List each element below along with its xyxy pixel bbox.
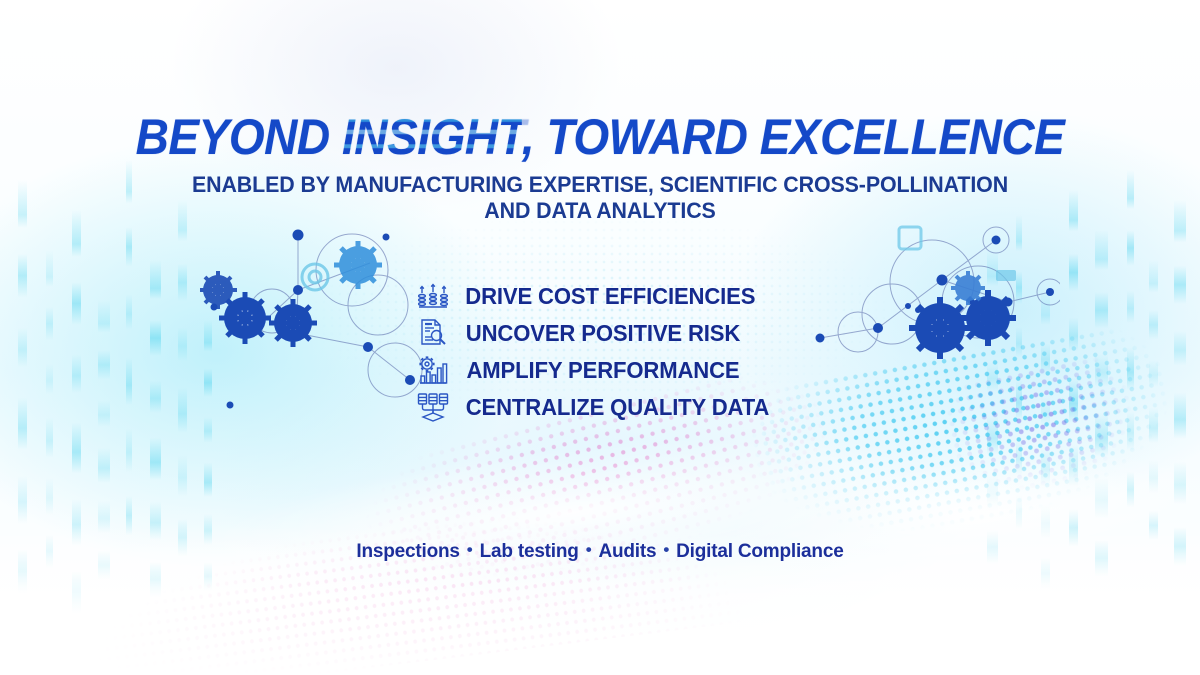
gear-chart-icon [410,355,456,385]
tagline-item-inspections: Inspections [356,541,459,562]
subtitle-line-1: ENABLED BY MANUFACTURING EXPERTISE, SCIE… [30,172,1170,198]
headline-glitch-word: INSIGHT [342,109,522,165]
benefit-item-centralize-quality-data: CENTRALIZE QUALITY DATA [410,389,750,425]
document-search-icon [410,318,456,348]
benefit-label: DRIVE COST EFFICIENCIES [465,283,755,310]
benefit-item-uncover-positive-risk: UNCOVER POSITIVE RISK [410,315,750,351]
benefit-label: UNCOVER POSITIVE RISK [465,320,741,347]
benefit-item-drive-cost-efficiencies: DRIVE COST EFFICIENCIES [410,278,750,314]
headline-part-1: BEYOND [136,109,342,165]
tagline-separator-icon: • [579,540,599,559]
benefits-list: DRIVE COST EFFICIENCIES UNCOVER POSITIVE… [410,278,750,426]
benefit-item-amplify-performance: AMPLIFY PERFORMANCE [410,352,750,388]
tagline-item-digital-compliance: Digital Compliance [676,541,843,562]
tagline-separator-icon: • [656,540,676,559]
server-database-icon [410,392,456,422]
tagline-item-audits: Audits [598,541,656,562]
subtitle-line-2: AND DATA ANALYTICS [30,198,1170,224]
tagline-item-lab-testing: Lab testing [480,541,579,562]
benefit-label: AMPLIFY PERFORMANCE [465,357,741,384]
headline-part-2: , TOWARD EXCELLENCE [522,109,1064,165]
page-subtitle: ENABLED BY MANUFACTURING EXPERTISE, SCIE… [30,172,1170,224]
tagline-separator-icon: • [460,540,480,559]
page-title: BEYOND INSIGHT, TOWARD EXCELLENCE [48,112,1152,162]
benefit-label: CENTRALIZE QUALITY DATA [466,394,770,421]
hero-banner: BEYOND INSIGHT, TOWARD EXCELLENCE ENABLE… [0,0,1200,675]
services-tagline: Inspections•Lab testing•Audits•Digital C… [0,541,1200,563]
money-stack-icon [410,282,456,310]
